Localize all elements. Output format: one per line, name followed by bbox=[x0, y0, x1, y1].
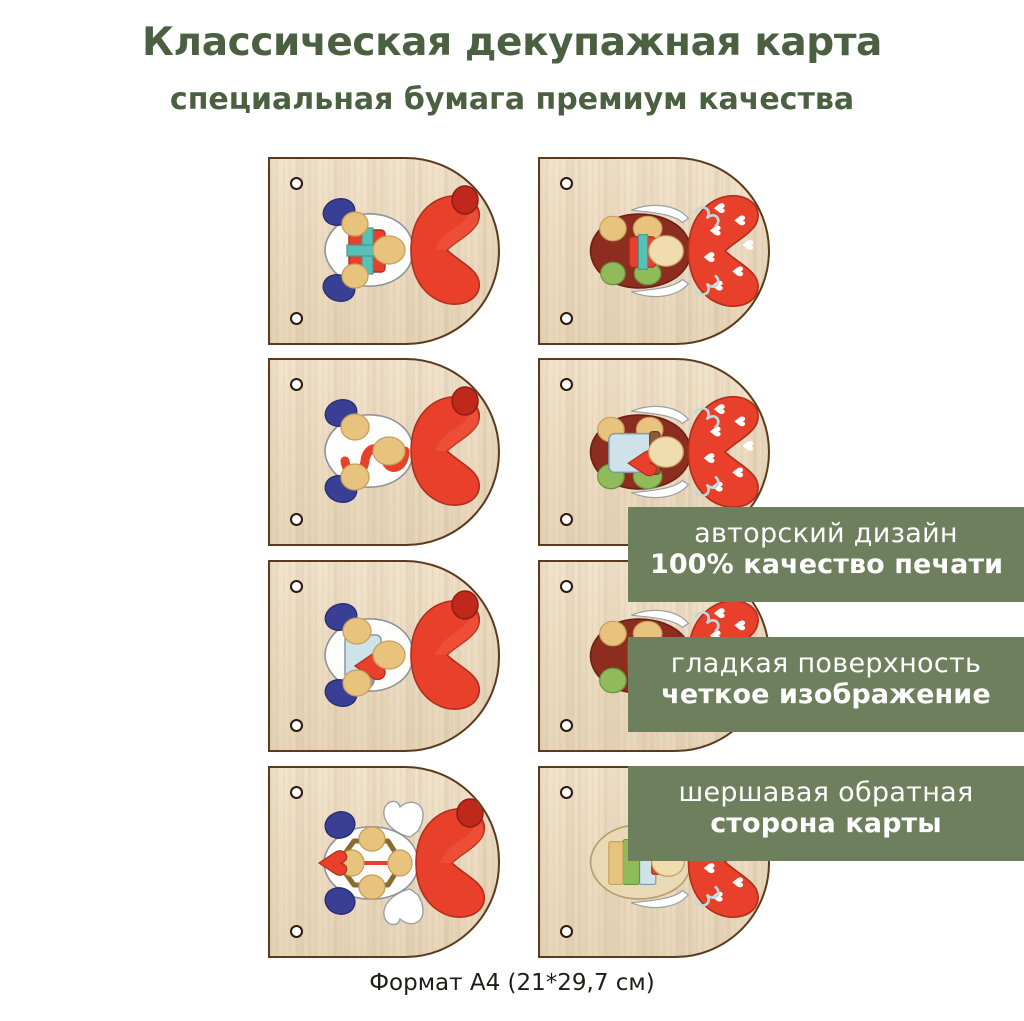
promo-line-1: авторский дизайн bbox=[650, 519, 1002, 549]
card-row3-left bbox=[268, 560, 500, 752]
promo-banner-design: авторский дизайн 100% качество печати bbox=[628, 507, 1024, 602]
promo-line-1: гладкая поверхность bbox=[650, 649, 1002, 679]
product-image: Классическая декупажная карта специальна… bbox=[0, 0, 1024, 1021]
card-row1-right bbox=[538, 157, 770, 345]
card-row4-left bbox=[268, 766, 500, 958]
card-row1-left bbox=[268, 157, 500, 345]
gnome-artwork bbox=[300, 376, 490, 526]
page-subtitle: специальная бумага премиум качества bbox=[0, 82, 1024, 117]
gnome-artwork bbox=[300, 175, 490, 325]
gnome-artwork bbox=[568, 171, 764, 331]
gnome-artwork bbox=[296, 774, 492, 952]
card-row2-left bbox=[268, 358, 500, 546]
promo-line-2: четкое изображение bbox=[650, 679, 1002, 711]
format-caption: Формат А4 (21*29,7 см) bbox=[0, 970, 1024, 996]
promo-line-2: 100% качество печати bbox=[650, 549, 1002, 581]
promo-line-1: шершавая обратная bbox=[650, 778, 1002, 808]
promo-banner-surface: гладкая поверхность четкое изображение bbox=[628, 637, 1024, 732]
gnome-artwork bbox=[300, 580, 490, 730]
page-title: Классическая декупажная карта bbox=[0, 20, 1024, 65]
promo-banner-backside: шершавая обратная сторона карты bbox=[628, 766, 1024, 861]
promo-line-2: сторона карты bbox=[650, 808, 1002, 840]
